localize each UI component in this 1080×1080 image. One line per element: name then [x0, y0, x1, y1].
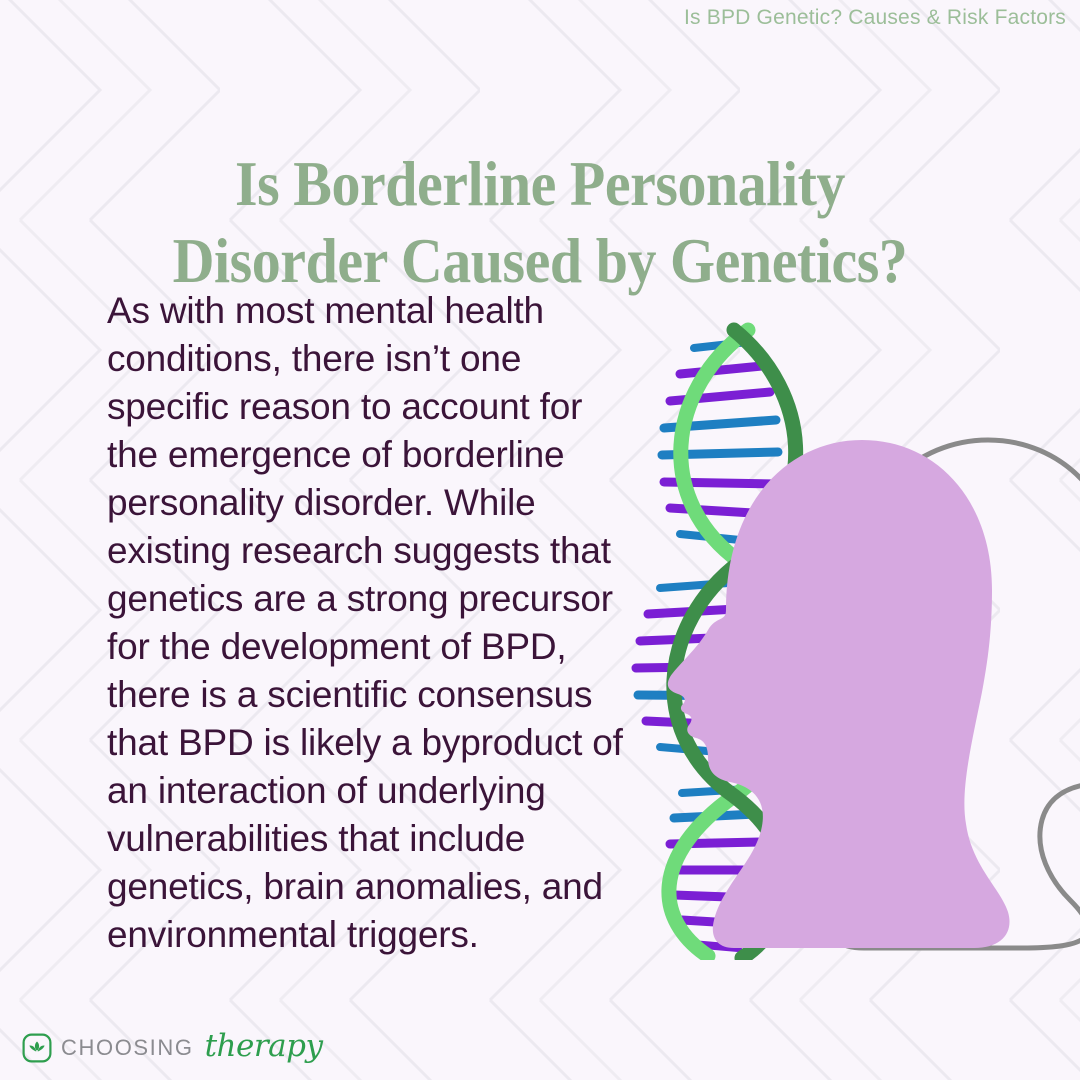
body-line: specific reason to account for — [107, 383, 667, 431]
page-title-line-1: Is Borderline Personality — [98, 146, 981, 223]
body-paragraph: As with most mental health conditions, t… — [107, 287, 667, 959]
body-line: genetics, brain anomalies, and — [107, 863, 667, 911]
body-line: the emergence of borderline — [107, 431, 667, 479]
body-line: genetics are a strong precursor — [107, 575, 667, 623]
logo-word-choosing: Choosing — [61, 1035, 194, 1061]
page-title: Is Borderline Personality Disorder Cause… — [98, 146, 981, 300]
infographic-poster: Is BPD Genetic? Causes & Risk Factors Is… — [0, 0, 1080, 1080]
body-line: environmental triggers. — [107, 911, 667, 959]
body-line: personality disorder. While — [107, 479, 667, 527]
body-line: an interaction of underlying — [107, 767, 667, 815]
body-line: that BPD is likely a byproduct of — [107, 719, 667, 767]
kicker-text: Is BPD Genetic? Causes & Risk Factors — [684, 6, 1066, 30]
body-line: there is a scientific consensus — [107, 671, 667, 719]
brand-logo[interactable]: Choosing therapy — [22, 1032, 323, 1064]
body-line: vulnerabilities that include — [107, 815, 667, 863]
dna-and-heads-illustration — [630, 300, 1080, 960]
body-line: As with most mental health — [107, 287, 667, 335]
body-line: for the development of BPD, — [107, 623, 667, 671]
lotus-leaf-icon — [22, 1033, 52, 1063]
body-line: conditions, there isn’t one — [107, 335, 667, 383]
body-line: existing research suggests that — [107, 527, 667, 575]
logo-word-therapy: therapy — [205, 1028, 323, 1064]
